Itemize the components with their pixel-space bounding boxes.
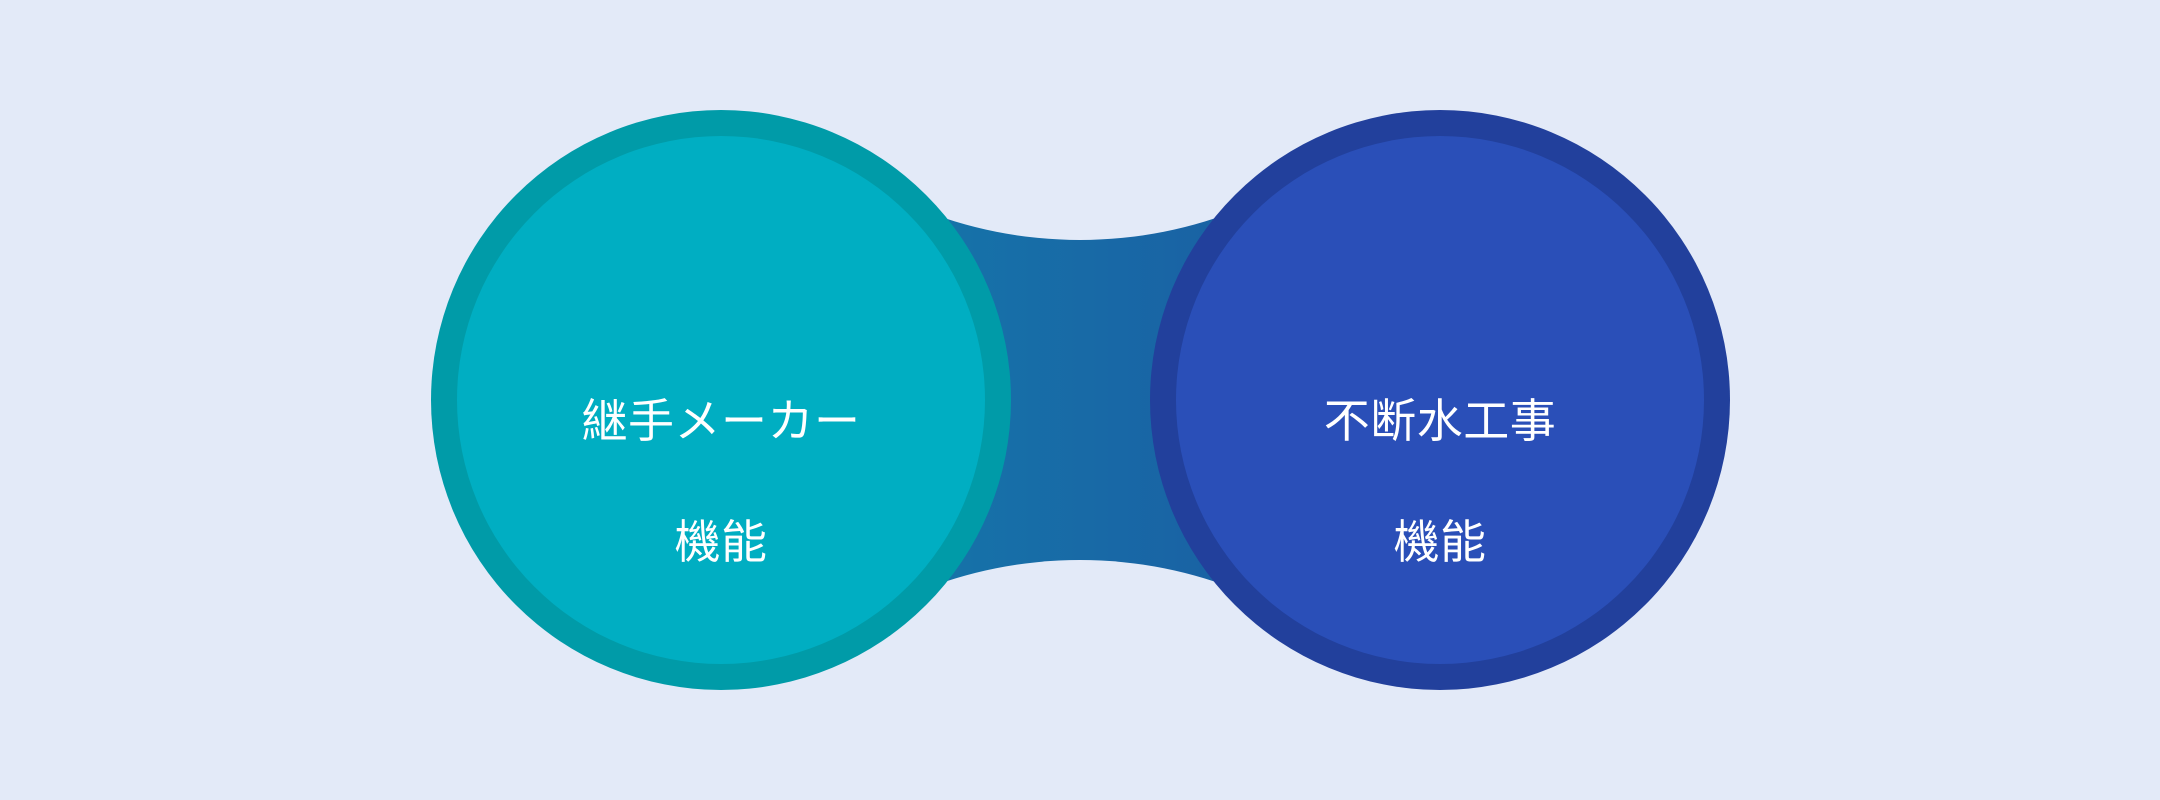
two-circle-diagram xyxy=(0,0,2160,800)
right-circle-fill xyxy=(1176,136,1704,664)
left-circle-fill xyxy=(457,136,985,664)
diagram-canvas: 継手メーカー 機能 不断水工事 機能 xyxy=(0,0,2160,800)
right-circle-group[interactable] xyxy=(1150,110,1730,690)
connector-band xyxy=(0,0,2160,800)
left-circle-group[interactable] xyxy=(431,110,1011,690)
connector-gradient-fill xyxy=(0,0,2160,800)
